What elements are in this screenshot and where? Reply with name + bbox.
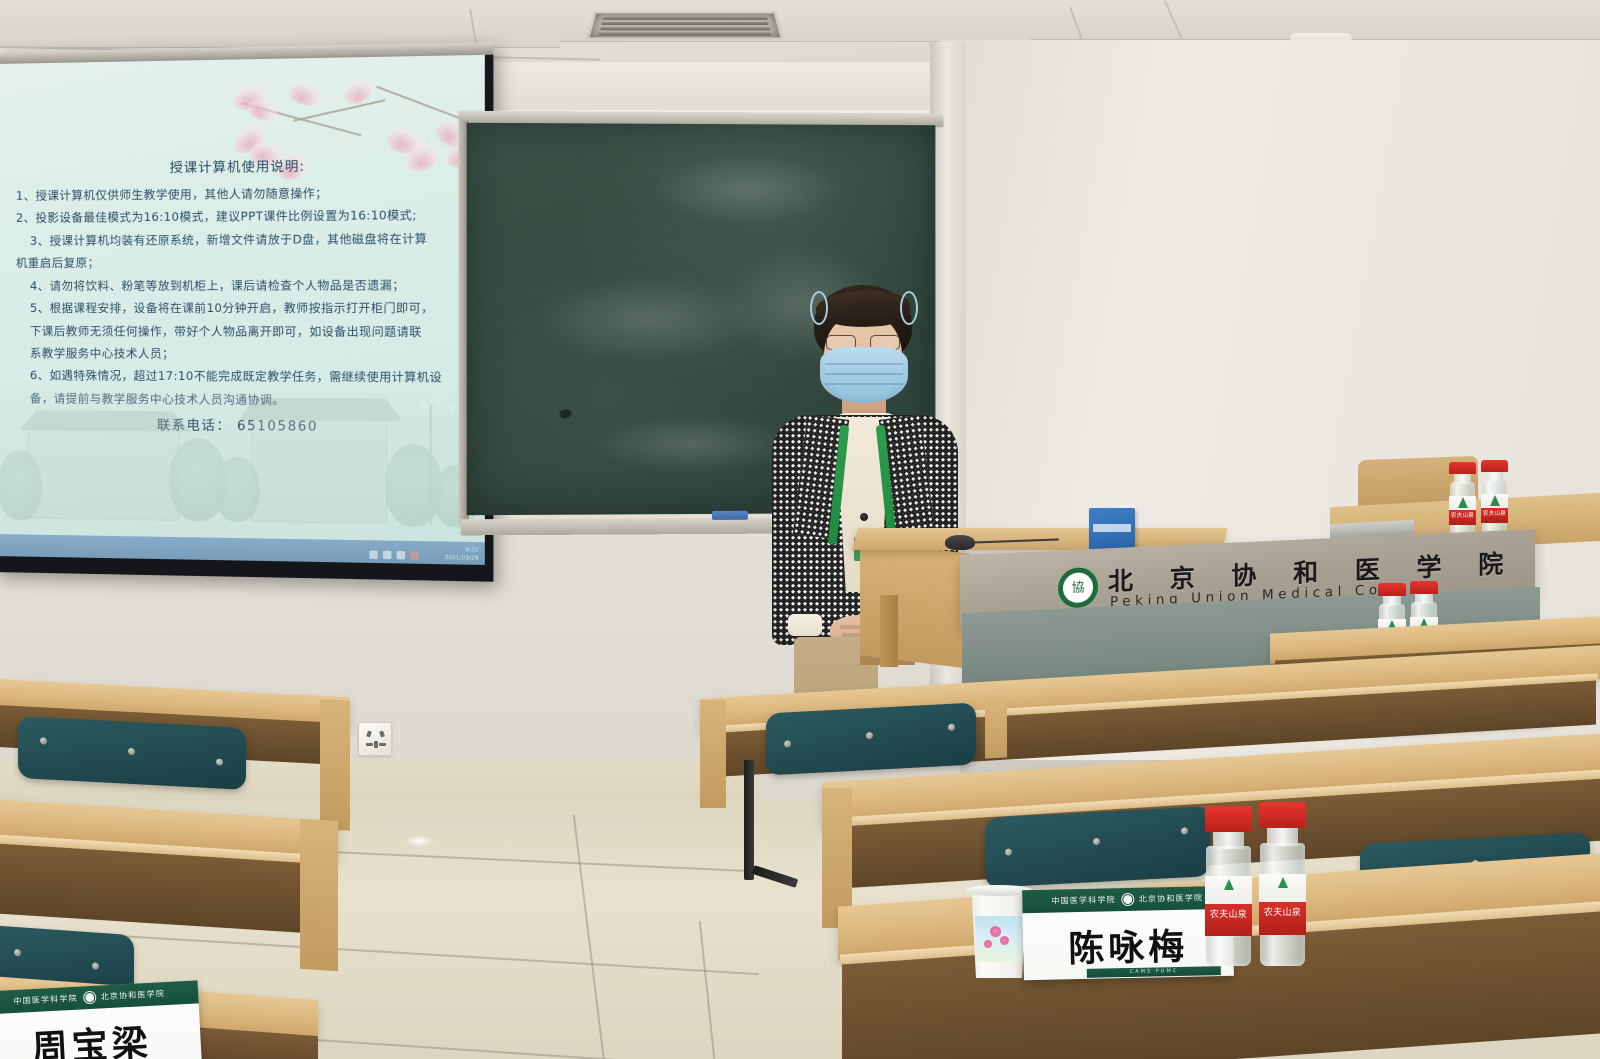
- jacket-button-1: [860, 513, 868, 521]
- chair-stem: [744, 760, 754, 880]
- chair[interactable]: [766, 702, 976, 775]
- slide-line-4: 机重启后复原；: [16, 250, 466, 274]
- mask-strap-left: [810, 291, 828, 325]
- blackboard-mark: [558, 408, 572, 421]
- tissue-box-label: [1093, 524, 1131, 532]
- taskbar-tray-icons[interactable]: [369, 551, 419, 560]
- chalkboard-eraser[interactable]: [712, 511, 748, 520]
- tray-icon-4[interactable]: [410, 551, 418, 559]
- slide-line-1: 1、授课计算机仅供师生教学使用，其他人请勿随意操作；: [16, 181, 466, 208]
- taskbar-clock[interactable]: 9:22 2021/03/29: [445, 545, 479, 563]
- paper-cup-artwork: [972, 916, 1026, 962]
- placard-seal-icon: [1121, 893, 1134, 906]
- desk-divider: [985, 701, 1007, 758]
- blue-tissue-box[interactable]: [1089, 508, 1135, 550]
- pumc-logo-icon: 協: [1058, 567, 1098, 609]
- bottle-brand-label: 农夫山泉: [1205, 907, 1252, 920]
- slide-line-8: 系教学服务中心技术人员；: [16, 342, 466, 366]
- bottle-brand-label: 农夫山泉: [1259, 905, 1306, 918]
- pumc-logo-glyph: 協: [1071, 581, 1084, 595]
- bottle-brand-label: 农夫山泉: [1449, 511, 1476, 519]
- bottle-brand-label: 农夫山泉: [1481, 509, 1508, 517]
- projected-slide: 授课计算机使用说明: 1、授课计算机仅供师生教学使用，其他人请勿随意操作； 2、…: [0, 55, 485, 565]
- placard-institution-2: 北京协和医学院: [1139, 893, 1204, 905]
- slide-title: 授课计算机使用说明:: [16, 154, 466, 178]
- mask-strap-right: [900, 291, 918, 325]
- placard-name-left: 周宝梁: [0, 1004, 202, 1059]
- slide-line-3: 3、授课计算机均装有还原系统，新增文件请放于D盘，其他磁盘将在计算: [16, 227, 466, 252]
- desk-left-end-panel: [320, 699, 350, 831]
- teacher-desk-leg: [880, 595, 898, 667]
- name-placard-left: 中国医学科学院 北京协和医学院 周宝梁: [0, 980, 202, 1059]
- water-bottle[interactable]: 农夫山泉: [1259, 802, 1306, 966]
- slide-line-5: 4、请勿将饮料、粉笔等放到机柜上，课后请检查个人物品是否遗漏；: [16, 273, 466, 297]
- water-bottle[interactable]: 农夫山泉: [1481, 460, 1508, 538]
- desk-end-panel: [700, 700, 726, 808]
- water-bottle[interactable]: 农夫山泉: [1205, 806, 1252, 966]
- slide-line-6: 5、根据课程安排，设备将在课前10分钟开启，教师按指示打开柜门即可，: [16, 297, 466, 320]
- tray-icon-2[interactable]: [383, 551, 391, 559]
- placard-institution-1: 中国医学科学院: [13, 993, 78, 1007]
- slide-building-photo: [0, 384, 485, 542]
- classroom-scene: 授课计算机使用说明: 1、授课计算机仅供师生教学使用，其他人请勿随意操作； 2、…: [0, 0, 1600, 1059]
- taskbar-date: 2021/03/29: [445, 554, 479, 563]
- placard-seal-icon: [82, 991, 96, 1005]
- placard-institution-1: 中国医学科学院: [1051, 894, 1116, 906]
- chair[interactable]: [18, 716, 246, 790]
- slide-line-2: 2、投影设备最佳模式为16:10模式，建议PPT课件比例设置为16:10模式;: [16, 204, 466, 230]
- slide-line-7: 下课后教师无须任何操作，带好个人物品离开即可，如设备出现问题请联: [16, 320, 466, 343]
- sleeve-cuff-left: [788, 614, 822, 636]
- computer-mouse[interactable]: [945, 535, 975, 550]
- desk-left-mid-panel: [300, 819, 338, 971]
- floor-light-reflection: [405, 835, 433, 847]
- tray-icon-1[interactable]: [369, 551, 377, 559]
- projector-screen: 授课计算机使用说明: 1、授课计算机仅供师生教学使用，其他人请勿随意操作； 2、…: [0, 42, 493, 581]
- water-bottle[interactable]: 农夫山泉: [1449, 462, 1476, 540]
- face-mask: [820, 347, 908, 403]
- wall-power-outlet[interactable]: [358, 722, 392, 756]
- teacher-desk-front: [860, 540, 970, 669]
- tray-icon-3[interactable]: [397, 551, 405, 559]
- placard-institution-2: 北京协和医学院: [100, 988, 165, 1002]
- ceiling-air-vent: [586, 11, 784, 39]
- chair[interactable]: [985, 806, 1210, 888]
- name-placard-center: 中国医学科学院 北京协和医学院 陈咏梅 CAMS PUMC: [1022, 886, 1234, 980]
